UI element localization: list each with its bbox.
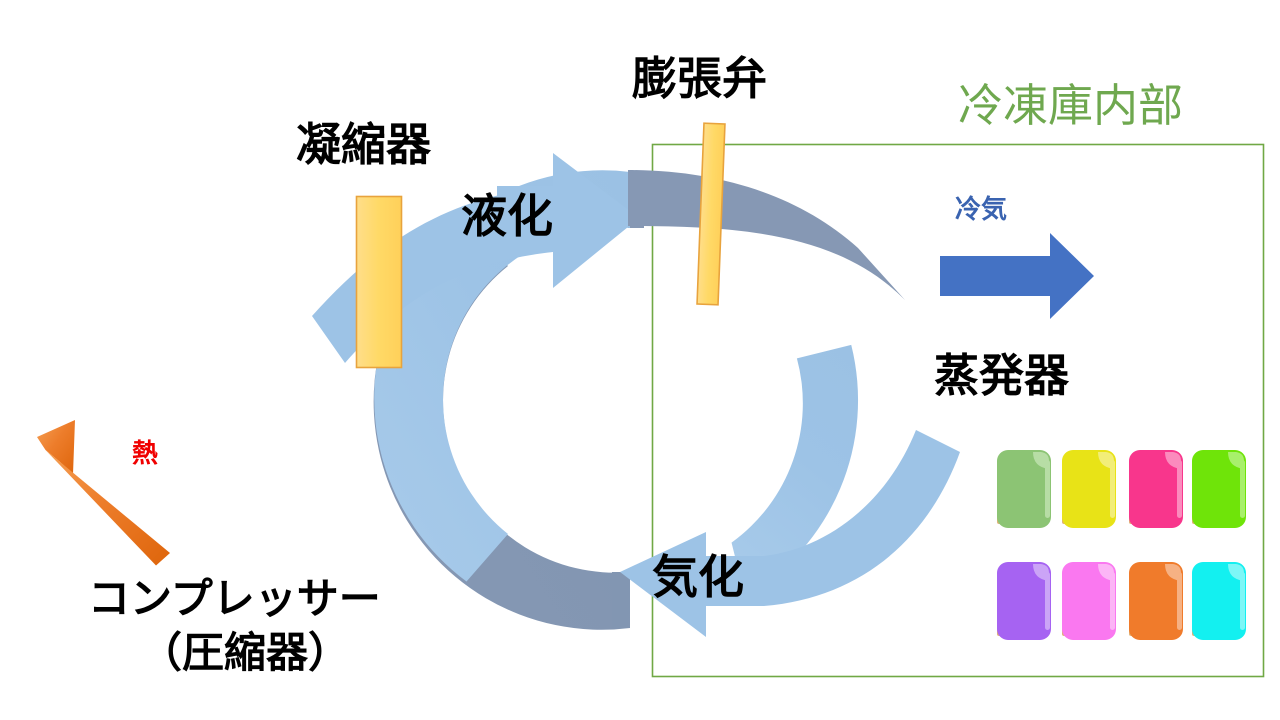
popsicle-pink-light	[1062, 562, 1116, 640]
refrigeration-cycle-diagram: 凝縮器 膨張弁 蒸発器 冷凍庫内部 液化 気化 冷気 熱 コンプレッサー （圧縮…	[0, 0, 1280, 720]
compressor-label-line2: （圧縮器）	[140, 632, 350, 674]
expansion-valve-bar	[697, 123, 725, 305]
compressor-label-line1: コンプレッサー	[88, 578, 381, 620]
popsicle-pink-hot	[1129, 450, 1183, 528]
vaporization-label: 気化	[652, 554, 744, 600]
popsicle-purple	[997, 562, 1051, 640]
popsicle-group	[997, 450, 1246, 640]
popsicle-cyan	[1192, 562, 1246, 640]
cold-air-label: 冷気	[955, 196, 1007, 222]
heat-arrow-head	[37, 420, 75, 474]
liquefaction-label: 液化	[461, 193, 553, 239]
condenser-label: 凝縮器	[296, 122, 431, 167]
popsicle-green-light	[997, 450, 1051, 528]
dark-arc-top-band	[628, 170, 905, 300]
popsicle-green-bright	[1192, 450, 1246, 528]
freezer-interior-label: 冷凍庫内部	[958, 83, 1183, 128]
cold-air-arrow	[940, 233, 1094, 319]
evaporator-label: 蒸発器	[934, 353, 1069, 398]
popsicle-orange	[1129, 562, 1183, 640]
expansion-valve-label: 膨張弁	[632, 56, 767, 101]
dark-arc-tail	[612, 572, 628, 628]
heat-label: 熱	[132, 440, 158, 466]
popsicle-yellow	[1062, 450, 1116, 528]
condenser-bar	[357, 197, 402, 368]
